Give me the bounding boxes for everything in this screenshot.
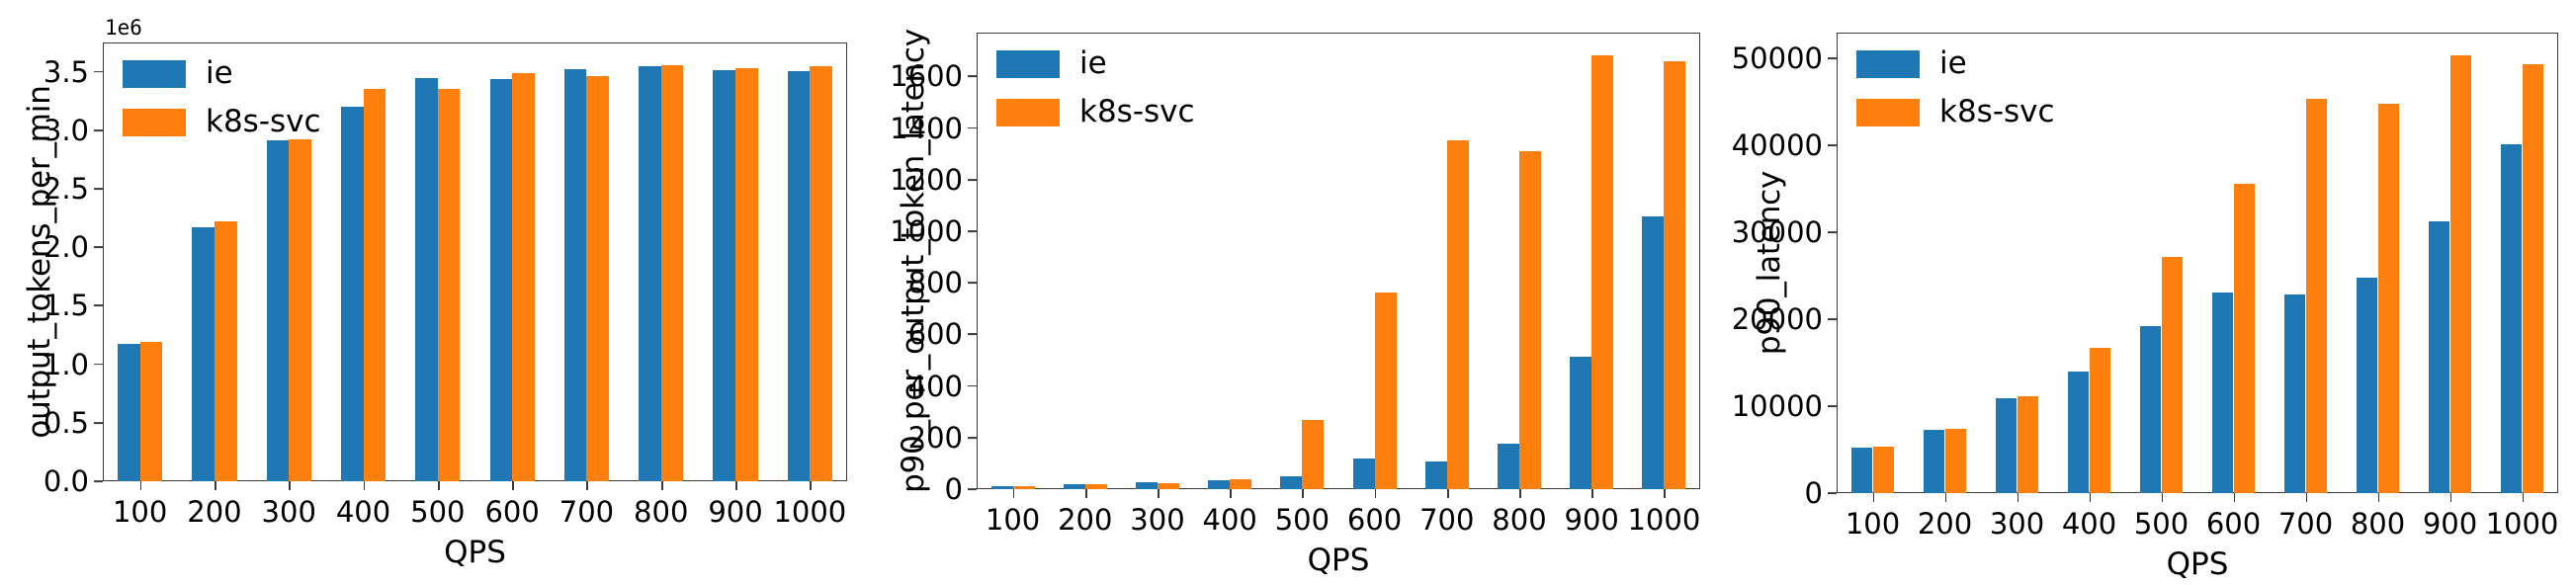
x-axis-label-1: QPS <box>103 535 847 570</box>
bar-k8s-svc-200 <box>1085 484 1107 489</box>
y-tick-mark <box>968 385 977 387</box>
y-axis-offset-text-1: 1e6 <box>105 16 142 40</box>
x-tick-mark <box>1664 489 1666 498</box>
x-tick-mark <box>512 481 514 490</box>
bar-k8s-svc-600 <box>2234 184 2256 493</box>
bar-k8s-svc-500 <box>1302 420 1324 489</box>
bar-ie-500 <box>1280 476 1302 489</box>
bar-k8s-svc-900 <box>1591 55 1613 489</box>
bar-ie-100 <box>991 486 1013 489</box>
x-tick-mark <box>2450 493 2452 502</box>
y-tick-mark <box>1828 231 1837 233</box>
bar-ie-600 <box>1353 459 1375 489</box>
legend-label: k8s-svc <box>1079 97 1195 127</box>
bar-k8s-svc-600 <box>512 73 535 481</box>
bar-k8s-svc-1000 <box>810 66 832 481</box>
y-tick-label: 50000 <box>1732 42 1823 75</box>
figure-canvas: 0.00.51.01.52.02.53.03.5 100200300400500… <box>0 0 2576 585</box>
y-tick-mark <box>94 422 103 424</box>
bar-ie-900 <box>2429 221 2450 493</box>
y-tick-mark <box>94 246 103 248</box>
bar-k8s-svc-100 <box>1873 447 1895 493</box>
x-tick-mark <box>1302 489 1304 498</box>
bar-k8s-svc-300 <box>1158 483 1179 489</box>
bar-k8s-svc-800 <box>2378 104 2400 493</box>
y-tick-mark <box>94 304 103 306</box>
legend-label: ie <box>206 58 233 89</box>
y-axis-label-1: output_tokens_per_min <box>22 85 57 438</box>
legend-swatch-icon <box>996 50 1060 78</box>
legend-1: iek8s-svc <box>123 58 321 137</box>
legend-item-k8s-svc[interactable]: k8s-svc <box>1856 97 2055 127</box>
bar-ie-900 <box>1570 357 1591 489</box>
x-tick-mark <box>1447 489 1449 498</box>
bar-k8s-svc-400 <box>2090 348 2111 493</box>
x-tick-mark <box>661 481 663 490</box>
bar-ie-100 <box>1851 448 1873 493</box>
y-tick-mark <box>1828 144 1837 146</box>
x-tick-mark <box>289 481 291 490</box>
legend-label: k8s-svc <box>206 107 321 137</box>
bar-k8s-svc-1000 <box>1664 61 1685 489</box>
bar-ie-1000 <box>2501 144 2523 493</box>
x-tick-mark <box>1375 489 1377 498</box>
x-tick-label: 1000 <box>1599 503 1730 537</box>
bar-group-3 <box>1716 0 2576 585</box>
bar-ie-700 <box>2284 294 2306 493</box>
bar-k8s-svc-800 <box>661 65 684 482</box>
y-tick-mark <box>1828 492 1837 494</box>
y-tick-mark <box>1828 405 1837 407</box>
y-tick-mark <box>94 188 103 190</box>
chart-panel-3: 01000020000300004000050000 1002003004005… <box>1716 0 2576 585</box>
bar-k8s-svc-700 <box>1447 140 1469 489</box>
y-axis-label-2: p90_per_output_token_latency <box>896 29 931 493</box>
bar-ie-100 <box>118 344 140 481</box>
x-tick-label: 1000 <box>743 495 878 529</box>
legend-2: iek8s-svc <box>996 48 1195 127</box>
x-tick-mark <box>2378 493 2380 502</box>
y-tick-mark <box>968 282 977 284</box>
bar-k8s-svc-700 <box>2306 99 2328 493</box>
y-tick-mark <box>968 127 977 129</box>
x-tick-mark <box>438 481 440 490</box>
bar-ie-600 <box>490 79 513 481</box>
legend-swatch-icon <box>123 60 186 88</box>
legend-swatch-icon <box>996 99 1060 126</box>
x-tick-mark <box>1085 489 1087 498</box>
bar-ie-800 <box>1498 444 1519 489</box>
x-tick-mark <box>1013 489 1015 498</box>
legend-swatch-icon <box>1856 50 1920 78</box>
y-tick-mark <box>968 179 977 181</box>
legend-item-ie[interactable]: ie <box>1856 48 2055 79</box>
bar-ie-400 <box>2068 372 2090 493</box>
y-tick-label: 0.0 <box>43 464 89 498</box>
legend-item-k8s-svc[interactable]: k8s-svc <box>996 97 1195 127</box>
bar-k8s-svc-200 <box>1945 429 1967 494</box>
y-tick-mark <box>968 230 977 232</box>
bar-k8s-svc-1000 <box>2523 64 2544 493</box>
x-tick-mark <box>810 481 812 490</box>
y-tick-label: 3.5 <box>43 55 89 89</box>
bar-k8s-svc-200 <box>215 221 237 481</box>
legend-swatch-icon <box>123 109 186 136</box>
bar-k8s-svc-400 <box>364 89 386 481</box>
x-tick-mark <box>735 481 737 490</box>
bar-ie-800 <box>639 66 661 481</box>
bar-k8s-svc-500 <box>2162 257 2184 493</box>
x-tick-mark <box>2018 493 2019 502</box>
x-tick-mark <box>1591 489 1593 498</box>
legend-label: k8s-svc <box>1939 97 2055 127</box>
legend-item-ie[interactable]: ie <box>123 58 321 89</box>
bar-ie-200 <box>1064 484 1085 489</box>
y-tick-mark <box>1828 57 1837 59</box>
bar-ie-500 <box>415 78 438 481</box>
bar-k8s-svc-800 <box>1519 151 1541 489</box>
legend-3: iek8s-svc <box>1856 48 2055 127</box>
bar-k8s-svc-700 <box>586 76 609 481</box>
bar-ie-800 <box>2357 278 2378 493</box>
x-tick-mark <box>1873 493 1875 502</box>
y-tick-label: 0 <box>1805 476 1823 510</box>
y-tick-mark <box>968 437 977 439</box>
x-tick-mark <box>2090 493 2092 502</box>
x-tick-mark <box>1519 489 1521 498</box>
bar-k8s-svc-900 <box>2450 55 2472 493</box>
y-tick-mark <box>968 75 977 77</box>
x-tick-mark <box>2234 493 2236 502</box>
x-tick-mark <box>1945 493 1947 502</box>
x-tick-mark <box>1230 489 1232 498</box>
x-tick-mark <box>2162 493 2164 502</box>
legend-item-ie[interactable]: ie <box>996 48 1195 79</box>
bar-group-2 <box>858 0 1718 585</box>
bar-ie-200 <box>1924 430 1945 493</box>
y-tick-mark <box>968 488 977 490</box>
y-tick-mark <box>968 333 977 335</box>
bar-ie-300 <box>1996 398 2018 493</box>
bar-k8s-svc-100 <box>1013 486 1035 489</box>
bar-ie-1000 <box>788 71 811 481</box>
y-tick-label: 0 <box>945 472 963 506</box>
x-tick-mark <box>140 481 142 490</box>
x-tick-mark <box>364 481 366 490</box>
y-axis-label-3: p90_latency <box>1752 171 1787 355</box>
x-tick-mark <box>2523 493 2525 502</box>
bar-ie-300 <box>1136 482 1158 489</box>
legend-item-k8s-svc[interactable]: k8s-svc <box>123 107 321 137</box>
y-tick-label: 10000 <box>1732 389 1823 423</box>
x-axis-label-2: QPS <box>977 543 1700 578</box>
x-tick-mark <box>586 481 588 490</box>
bar-ie-400 <box>1208 480 1230 489</box>
bar-ie-300 <box>267 140 290 481</box>
bar-k8s-svc-900 <box>735 68 758 481</box>
x-tick-mark <box>215 481 216 490</box>
y-tick-mark <box>94 129 103 131</box>
x-tick-mark <box>1158 489 1159 498</box>
bar-k8s-svc-500 <box>438 89 461 481</box>
bar-ie-700 <box>1425 461 1447 489</box>
bar-ie-600 <box>2212 292 2234 493</box>
y-tick-mark <box>1828 318 1837 320</box>
bar-k8s-svc-400 <box>1230 479 1251 489</box>
bar-k8s-svc-600 <box>1375 292 1397 489</box>
x-axis-label-3: QPS <box>1837 546 2558 582</box>
y-tick-label: 40000 <box>1732 128 1823 162</box>
bar-k8s-svc-100 <box>140 342 163 481</box>
legend-label: ie <box>1939 48 1967 79</box>
chart-panel-2: 02004006008001000120014001600 1002003004… <box>858 0 1718 585</box>
bar-ie-400 <box>341 107 364 481</box>
bar-k8s-svc-300 <box>2018 396 2039 493</box>
x-tick-mark <box>2306 493 2308 502</box>
legend-swatch-icon <box>1856 99 1920 126</box>
bar-ie-1000 <box>1642 216 1664 489</box>
bar-ie-700 <box>564 69 587 481</box>
bar-k8s-svc-300 <box>289 139 311 481</box>
y-tick-mark <box>94 71 103 73</box>
y-tick-mark <box>94 480 103 482</box>
bar-ie-900 <box>713 70 735 481</box>
y-tick-mark <box>94 364 103 366</box>
bar-ie-500 <box>2140 326 2162 493</box>
legend-label: ie <box>1079 48 1107 79</box>
bar-ie-200 <box>192 227 215 481</box>
chart-panel-1: 0.00.51.01.52.02.53.03.5 100200300400500… <box>0 0 860 585</box>
x-tick-label: 1000 <box>2457 507 2576 541</box>
